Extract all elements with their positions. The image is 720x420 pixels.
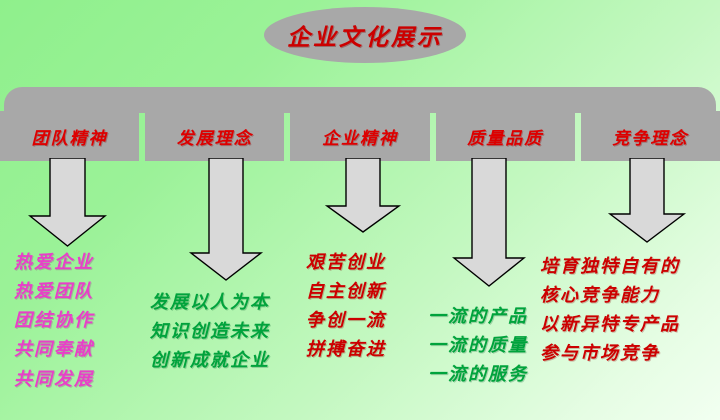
column-line: 创新成就企业 bbox=[150, 346, 270, 375]
category-box-enterprise-spirit[interactable]: 企业精神 bbox=[290, 111, 429, 161]
column-line: 培育独特自有的 bbox=[540, 252, 680, 281]
column-line: 核心竞争能力 bbox=[540, 281, 680, 310]
column-line: 自主创新 bbox=[306, 277, 386, 306]
down-arrow-icon bbox=[10, 158, 130, 248]
category-label: 团队精神 bbox=[32, 124, 108, 149]
text-column-enterprise-spirit: 艰苦创业 自主创新 争创一流 拼搏奋进 bbox=[306, 248, 386, 365]
column-line: 艰苦创业 bbox=[306, 248, 386, 277]
enterprise-culture-diagram: 企业文化展示 团队精神 发展理念 企业精神 质量品质 竞争理念 bbox=[0, 0, 720, 420]
column-line: 一流的服务 bbox=[428, 360, 528, 389]
down-arrow-icon bbox=[185, 158, 275, 283]
column-line: 争创一流 bbox=[306, 306, 386, 335]
category-label: 发展理念 bbox=[177, 124, 253, 149]
column-line: 参与市场竞争 bbox=[540, 339, 680, 368]
category-row: 团队精神 发展理念 企业精神 质量品质 竞争理念 bbox=[0, 111, 720, 161]
category-box-quality[interactable]: 质量品质 bbox=[436, 111, 575, 161]
text-column-competition-idea: 培育独特自有的 核心竞争能力 以新异特专产品 参与市场竞争 bbox=[540, 252, 680, 369]
category-box-team-spirit[interactable]: 团队精神 bbox=[0, 111, 139, 161]
column-line: 团结协作 bbox=[14, 306, 94, 335]
column-line: 共同发展 bbox=[14, 365, 94, 394]
column-line: 以新异特专产品 bbox=[540, 310, 680, 339]
text-column-quality: 一流的产品 一流的质量 一流的服务 bbox=[428, 302, 528, 389]
column-line: 共同奉献 bbox=[14, 335, 94, 364]
category-box-development-idea[interactable]: 发展理念 bbox=[145, 111, 284, 161]
text-column-development-idea: 发展以人为本 知识创造未来 创新成就企业 bbox=[150, 288, 270, 375]
category-label: 竞争理念 bbox=[612, 124, 688, 149]
column-line: 热爱企业 bbox=[14, 248, 94, 277]
text-column-team-spirit: 热爱企业 热爱团队 团结协作 共同奉献 共同发展 bbox=[14, 248, 94, 394]
column-line: 拼搏奋进 bbox=[306, 335, 386, 364]
category-label: 企业精神 bbox=[322, 124, 398, 149]
column-line: 一流的产品 bbox=[428, 302, 528, 331]
down-arrow-icon bbox=[604, 158, 694, 248]
down-arrow-icon bbox=[322, 158, 412, 238]
header-bar bbox=[4, 87, 716, 113]
category-box-competition-idea[interactable]: 竞争理念 bbox=[581, 111, 720, 161]
column-line: 一流的质量 bbox=[428, 331, 528, 360]
category-label: 质量品质 bbox=[467, 124, 543, 149]
column-line: 知识创造未来 bbox=[150, 317, 270, 346]
column-line: 热爱团队 bbox=[14, 277, 94, 306]
column-line: 发展以人为本 bbox=[150, 288, 270, 317]
page-title: 企业文化展示 bbox=[264, 7, 466, 63]
down-arrow-icon bbox=[446, 158, 536, 290]
